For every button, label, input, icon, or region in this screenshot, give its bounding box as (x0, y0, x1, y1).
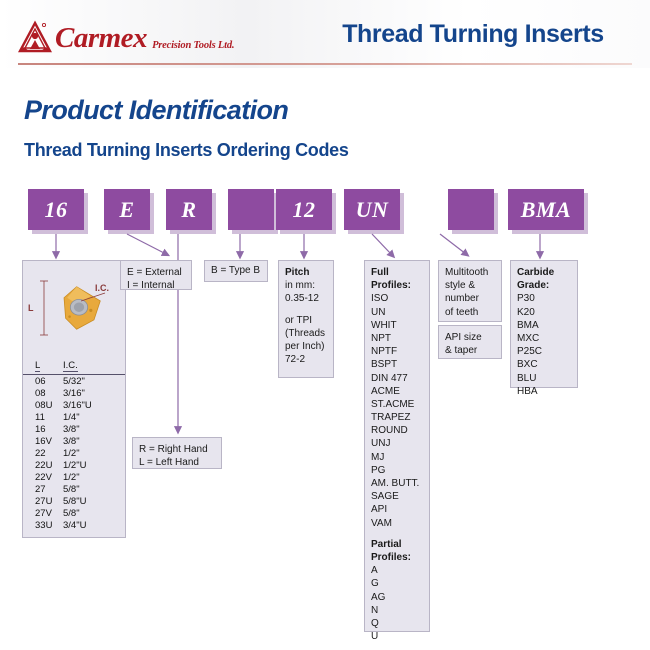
pitch-tpi-range: 72-2 (285, 353, 327, 366)
table-row: 08U3/16"U (23, 399, 125, 411)
full-profiles-list: ISOUNWHITNPTNPTFBSPTDIN 477ACMEST.ACMETR… (371, 292, 423, 529)
external-line: E = External (127, 266, 185, 279)
full-profile-item: MJ (371, 451, 423, 464)
table-row: 221/2" (23, 447, 125, 459)
carbide-heading-1: Carbide (517, 266, 571, 279)
table-row: 27V5/8" (23, 507, 125, 519)
carbide-grade-item: BMA (517, 319, 571, 332)
full-profile-item: VAM (371, 517, 423, 530)
page-subtitle: Thread Turning Inserts Ordering Codes (24, 140, 349, 161)
full-profile-item: ISO (371, 292, 423, 305)
pitch-unit-line: in mm: (285, 279, 327, 292)
table-row: 22U1/2"U (23, 459, 125, 471)
api-line-2: & taper (445, 344, 495, 357)
carbide-grade-list: P30K20BMAMXCP25CBXCBLUHBA (517, 292, 571, 398)
carbide-grade-item: P25C (517, 345, 571, 358)
multitooth-line-1: Multitooth (445, 266, 495, 279)
full-profile-item: PG (371, 464, 423, 477)
carbide-grade-item: P30 (517, 292, 571, 305)
pitch-tpi-line2: per Inch) (285, 340, 327, 353)
cell-l: 08 (23, 387, 61, 399)
cell-ic: 5/8" (61, 483, 125, 495)
code-box-label: R (181, 197, 196, 223)
partial-profiles-list: AGAGNQU (371, 564, 423, 643)
partial-profile-item: AG (371, 591, 423, 604)
logo-tagline: Precision Tools Ltd. (152, 40, 234, 51)
code-box-6: UN (344, 189, 400, 230)
partial-profile-item: G (371, 577, 423, 590)
full-profile-item: UNJ (371, 437, 423, 450)
partial-profile-item: Q (371, 617, 423, 630)
code-box-1: 16 (28, 189, 84, 230)
full-profile-item: BSPT (371, 358, 423, 371)
multitooth-line-4: of teeth (445, 306, 495, 319)
pitch-tpi-label: or TPI (285, 314, 327, 327)
api-line-1: API size (445, 331, 495, 344)
full-profile-item: NPTF (371, 345, 423, 358)
dimension-table: L I.C. 065/32"083/16"08U3/16"U111/4"163/… (23, 359, 125, 531)
cell-ic: 5/8"U (61, 495, 125, 507)
cell-l: 16V (23, 435, 61, 447)
table-row: 33U3/4"U (23, 519, 125, 531)
dimension-table-box: L I.C. 065/32"083/16"08U3/16"U111/4"163/… (22, 356, 126, 538)
code-box-7 (448, 189, 494, 230)
table-row: 111/4" (23, 411, 125, 423)
cell-l: 27U (23, 495, 61, 507)
cell-ic: 3/8" (61, 435, 125, 447)
carbide-grade-box: Carbide Grade: P30K20BMAMXCP25CBXCBLUHBA (510, 260, 578, 388)
cell-l: 16 (23, 423, 61, 435)
cell-l: 33U (23, 519, 61, 531)
type-b-box: B = Type B (204, 260, 268, 282)
code-box-5: 12 (276, 189, 332, 230)
code-box-4 (228, 189, 274, 230)
page-title: Product Identification (24, 95, 288, 126)
full-profile-item: WHIT (371, 319, 423, 332)
carmex-triangle-logo-icon (18, 20, 52, 54)
cell-ic: 3/16"U (61, 399, 125, 411)
type-b-line: B = Type B (211, 264, 260, 277)
full-profiles-heading-2: Profiles: (371, 279, 423, 292)
code-box-2: E (104, 189, 150, 230)
insert-illustration-box: L I.C. (22, 260, 126, 360)
full-profile-item: ST.ACME (371, 398, 423, 411)
table-row: 083/16" (23, 387, 125, 399)
full-profile-item: ACME (371, 385, 423, 398)
cell-ic: 5/8" (61, 507, 125, 519)
carbide-grade-item: K20 (517, 306, 571, 319)
cell-ic: 1/4" (61, 411, 125, 423)
hand-direction-box: R = Right Hand L = Left Hand (132, 437, 222, 469)
cell-ic: 3/8" (61, 423, 125, 435)
code-box-8: BMA (508, 189, 584, 230)
insert-label-l: L (28, 303, 34, 313)
left-hand-line: L = Left Hand (139, 456, 215, 469)
cell-l: 11 (23, 411, 61, 423)
l-dimension-line (35, 277, 53, 339)
company-logo: Carmex Precision Tools Ltd. (18, 20, 234, 54)
full-profile-item: TRAPEZ (371, 411, 423, 424)
carbide-grade-item: HBA (517, 385, 571, 398)
cell-l: 22U (23, 459, 61, 471)
partial-profile-item: U (371, 630, 423, 643)
right-hand-line: R = Right Hand (139, 443, 215, 456)
table-header-row: L I.C. (23, 359, 125, 375)
partial-profile-item: N (371, 604, 423, 617)
full-profile-item: UN (371, 306, 423, 319)
table-row: 275/8" (23, 483, 125, 495)
table-row: 22V1/2" (23, 471, 125, 483)
cell-ic: 3/4"U (61, 519, 125, 531)
multitooth-box: Multitooth style & number of teeth (438, 260, 502, 322)
cell-ic: 5/32" (61, 375, 125, 388)
profiles-box: Full Profiles: ISOUNWHITNPTNPTFBSPTDIN 4… (364, 260, 430, 632)
full-profile-item: NPT (371, 332, 423, 345)
code-box-label: 12 (293, 197, 316, 223)
code-box-label: BMA (521, 197, 571, 223)
pitch-box: Pitch in mm: 0.35-12 or TPI (Threads per… (278, 260, 334, 378)
code-box-3: R (166, 189, 212, 230)
column-header-l: L (23, 359, 61, 375)
carbide-grade-item: MXC (517, 332, 571, 345)
cell-ic: 1/2" (61, 447, 125, 459)
table-row: 163/8" (23, 423, 125, 435)
header-title: Thread Turning Inserts (308, 20, 638, 49)
pitch-mm-range: 0.35-12 (285, 292, 327, 305)
page-header: Carmex Precision Tools Ltd. Thread Turni… (0, 0, 650, 68)
full-profile-item: API (371, 503, 423, 516)
cell-l: 22 (23, 447, 61, 459)
pitch-tpi-line1: (Threads (285, 327, 327, 340)
table-row: 16V3/8" (23, 435, 125, 447)
cell-l: 06 (23, 375, 61, 388)
logo-wordmark: Carmex (55, 24, 147, 53)
cell-ic: 1/2"U (61, 459, 125, 471)
full-profile-item: SAGE (371, 490, 423, 503)
header-divider (18, 63, 632, 65)
full-profiles-heading-1: Full (371, 266, 423, 279)
cell-l: 27V (23, 507, 61, 519)
code-box-label: E (119, 197, 134, 223)
table-row: 27U5/8"U (23, 495, 125, 507)
multitooth-line-3: number (445, 292, 495, 305)
external-internal-box: E = External I = Internal (120, 260, 192, 290)
carbide-grade-item: BXC (517, 358, 571, 371)
cell-l: 27 (23, 483, 61, 495)
code-box-label: 16 (45, 197, 68, 223)
internal-line: I = Internal (127, 279, 185, 292)
partial-profile-item: A (371, 564, 423, 577)
carbide-heading-2: Grade: (517, 279, 571, 292)
full-profile-item: DIN 477 (371, 372, 423, 385)
cell-ic: 3/16" (61, 387, 125, 399)
full-profile-item: AM. BUTT. (371, 477, 423, 490)
table-row: 065/32" (23, 375, 125, 388)
cell-l: 22V (23, 471, 61, 483)
api-size-box: API size & taper (438, 325, 502, 359)
partial-profiles-heading-2: Profiles: (371, 551, 423, 564)
pitch-heading: Pitch (285, 266, 327, 279)
cell-ic: 1/2" (61, 471, 125, 483)
column-header-ic: I.C. (61, 359, 125, 375)
partial-profiles-heading-1: Partial (371, 538, 423, 551)
full-profile-item: ROUND (371, 424, 423, 437)
ic-dimension-leader (81, 291, 109, 305)
multitooth-line-2: style & (445, 279, 495, 292)
carbide-grade-item: BLU (517, 372, 571, 385)
code-box-label: UN (356, 197, 389, 223)
cell-l: 08U (23, 399, 61, 411)
